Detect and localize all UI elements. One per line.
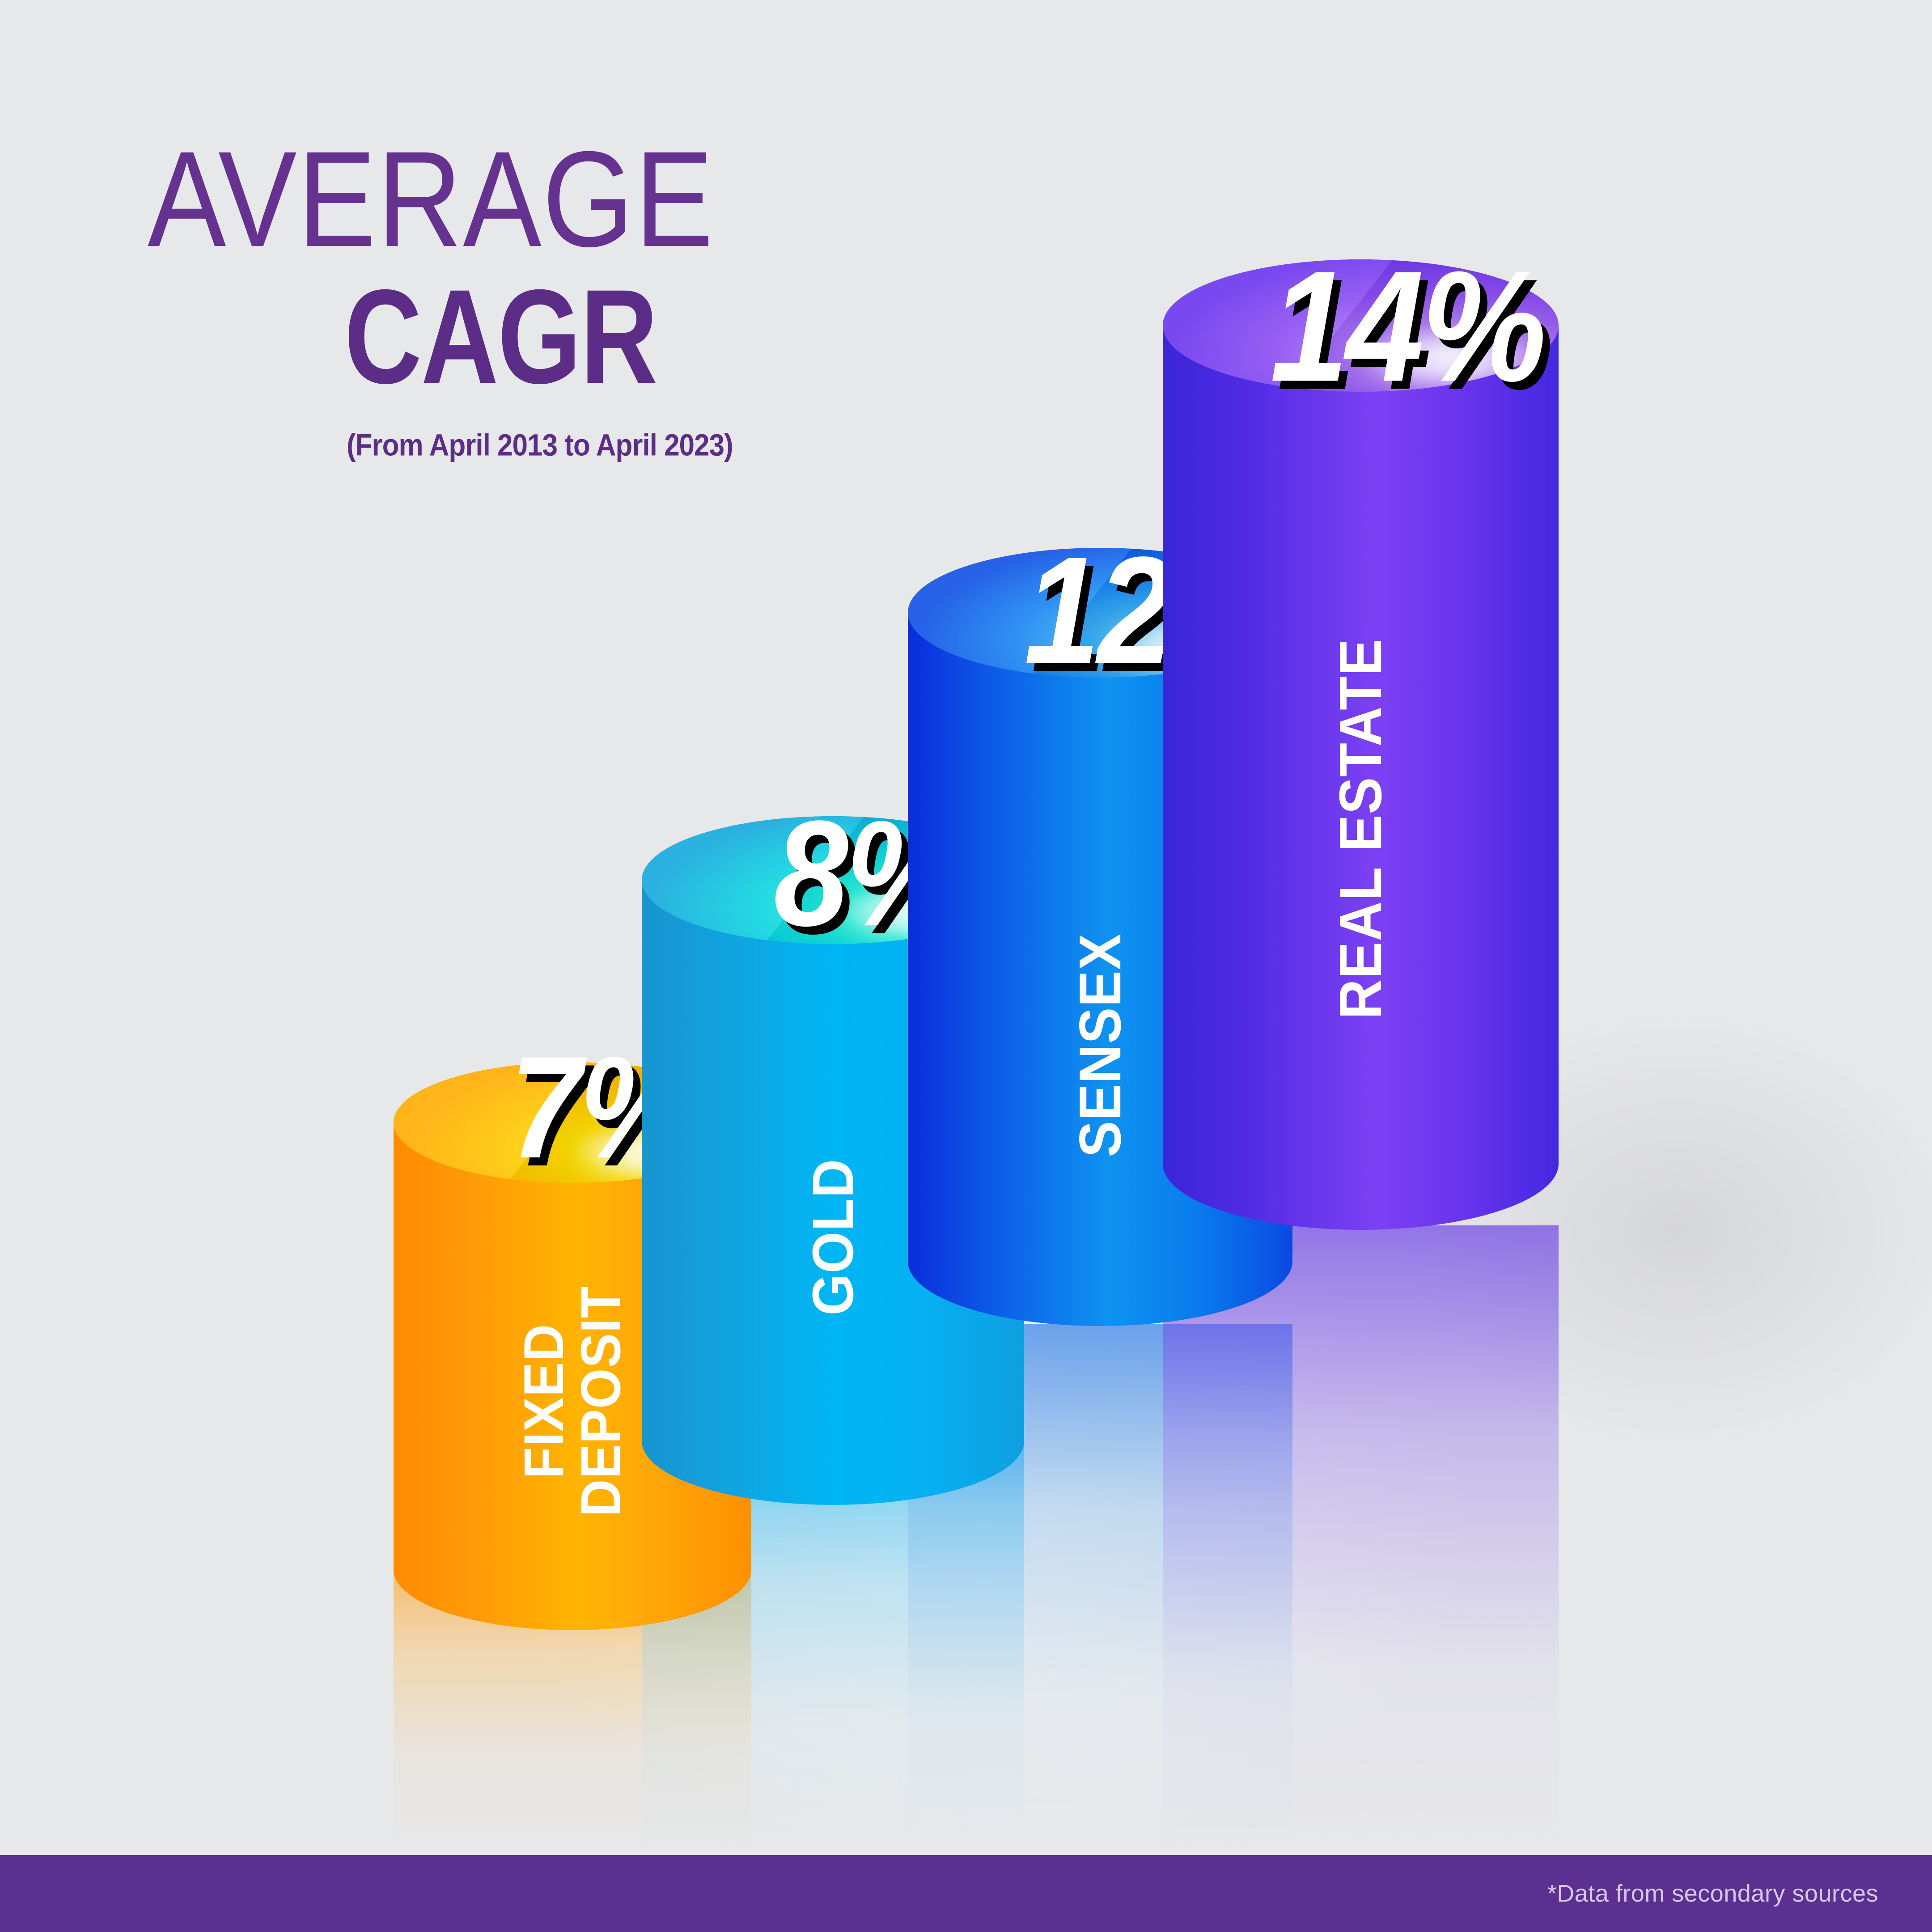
bar-label-gold: GOLD [803,1112,862,1362]
bar-value-real-estate: 14% [1270,236,1544,417]
page-subtitle: (From April 2013 to April 2023) [347,428,796,463]
footer-note: *Data from secondary sources [1547,1880,1878,1907]
footer-bar: *Data from secondary sources [0,1855,1932,1932]
bar-label-fixed-deposit: FIXED DEPOSIT [515,1263,630,1540]
page-title-line1: AVERAGE [148,134,809,263]
bar-label-real-estate: REAL ESTATE [1330,605,1391,1052]
title-block: AVERAGE CAGR (From April 2013 to April 2… [148,134,796,460]
page-title-line2: CAGR [344,275,778,398]
bar-label-sensex: SENSEX [1070,889,1130,1202]
infographic-canvas: AVERAGE CAGR (From April 2013 to April 2… [0,0,1932,1932]
